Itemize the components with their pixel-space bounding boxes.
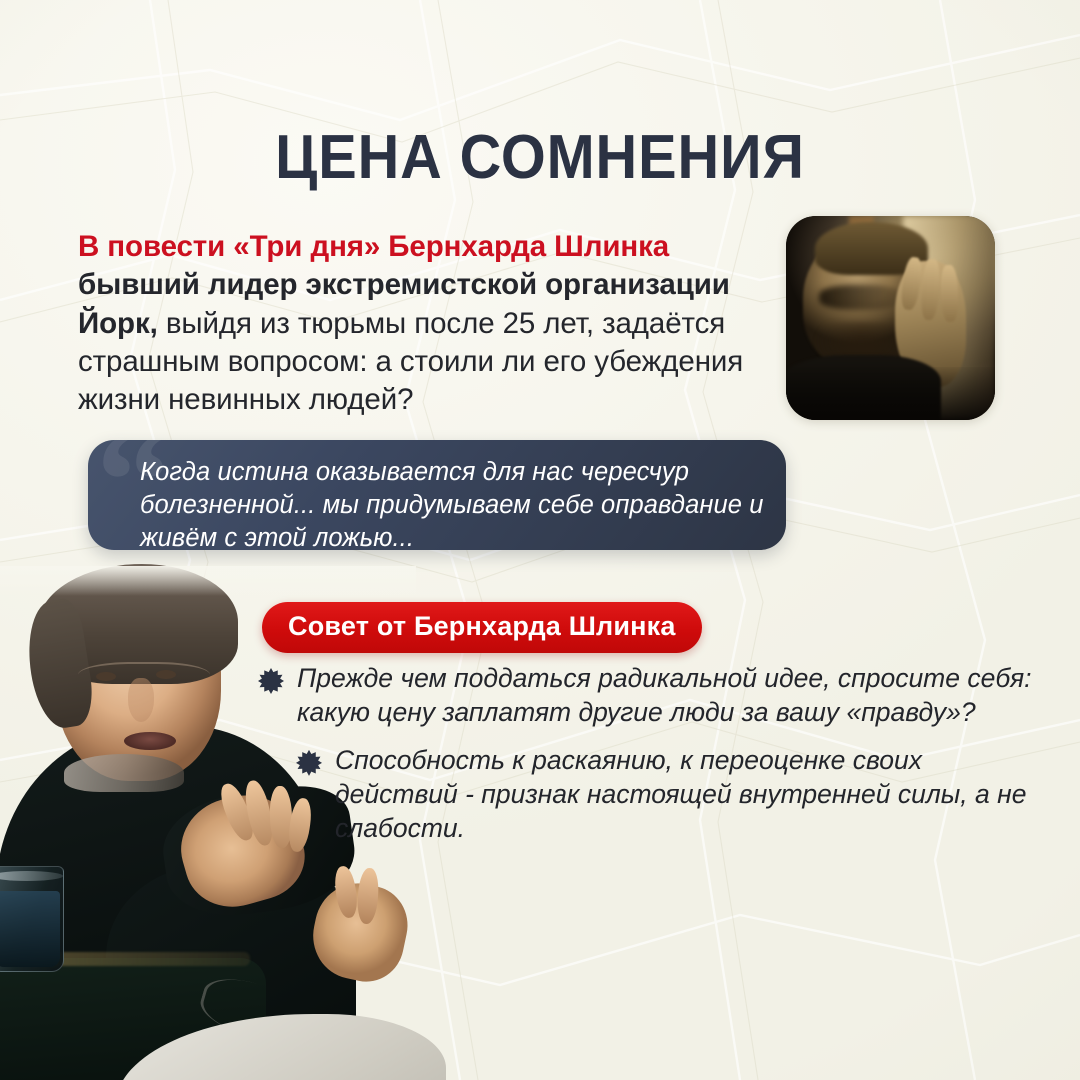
- quote-card: “ Когда истина оказывается для нас черес…: [88, 440, 786, 550]
- advice-bullet-item: Прежде чем поддаться радикальной идее, с…: [258, 662, 1033, 730]
- author-eye-right: [156, 670, 176, 679]
- portrait-finger: [940, 265, 959, 323]
- intro-lead-line: В повести «Три дня» Бернхарда Шлинка: [78, 228, 778, 266]
- advice-badge: Совет от Бернхарда Шлинка: [262, 602, 702, 653]
- intro-paragraph: В повести «Три дня» Бернхарда Шлинкабывш…: [78, 228, 778, 420]
- advice-bullet-text: Способность к раскаянию, к переоценке св…: [335, 744, 1033, 846]
- poster-canvas: ЦЕНА СОМНЕНИЯ В повести «Три дня» Бернха…: [0, 0, 1080, 1080]
- page-title: ЦЕНА СОМНЕНИЯ: [38, 122, 1042, 193]
- water-glass-liquid: [0, 891, 60, 967]
- water-glass: [0, 866, 64, 972]
- star-burst-icon: [258, 668, 284, 694]
- advice-list: Прежде чем поддаться радикальной идее, с…: [258, 662, 1033, 860]
- author-nose: [128, 678, 154, 722]
- troubled-man-portrait: [786, 216, 995, 420]
- author-eye-left: [96, 672, 116, 681]
- advice-bullet-item: Способность к раскаянию, к переоценке св…: [296, 744, 1033, 846]
- author-collar: [64, 754, 184, 792]
- quote-text: Когда истина оказывается для нас чересчу…: [140, 456, 764, 550]
- author-photo-top-fade: [0, 566, 416, 596]
- portrait-eye-shadow: [819, 285, 903, 309]
- water-glass-rim: [0, 871, 63, 881]
- portrait-bottom-shadow: [786, 367, 995, 420]
- author-mouth: [124, 732, 176, 750]
- intro-rest: выйдя из тюрьмы после 25 лет, задаётся с…: [78, 307, 743, 417]
- star-burst-icon: [296, 750, 322, 776]
- advice-bullet-text: Прежде чем поддаться радикальной идее, с…: [297, 662, 1033, 730]
